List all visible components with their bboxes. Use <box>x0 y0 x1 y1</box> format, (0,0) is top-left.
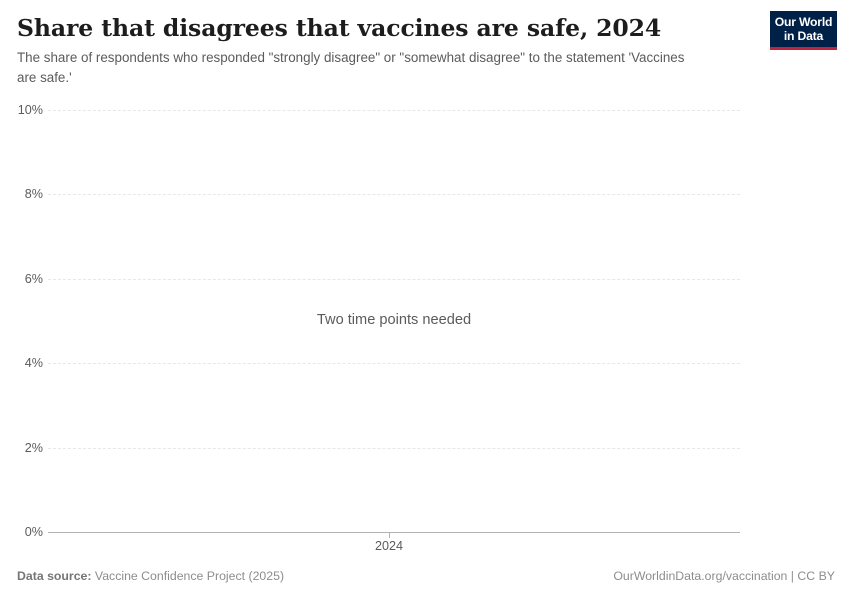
data-source-label: Data source: <box>17 569 92 583</box>
tick-mark <box>389 532 390 538</box>
gridline <box>48 363 740 364</box>
x-axis-tick-label: 2024 <box>375 539 403 553</box>
gridline <box>48 448 740 449</box>
x-axis-line <box>48 532 740 533</box>
logo-line-1: Our World <box>770 16 837 30</box>
y-axis-tick-label: 0% <box>25 525 43 539</box>
y-axis-tick-label: 8% <box>25 187 43 201</box>
y-axis-tick-label: 10% <box>18 103 43 117</box>
chart-footer: Data source: Vaccine Confidence Project … <box>17 569 835 589</box>
y-axis-tick-label: 2% <box>25 441 43 455</box>
gridline <box>48 194 740 195</box>
y-axis-tick-label: 4% <box>25 356 43 370</box>
gridline <box>48 110 740 111</box>
data-source-value[interactable]: Vaccine Confidence Project (2025) <box>95 569 284 583</box>
empty-state-message: Two time points needed <box>48 312 740 328</box>
gridline <box>48 279 740 280</box>
page-title: Share that disagrees that vaccines are s… <box>17 14 747 42</box>
data-source: Data source: Vaccine Confidence Project … <box>17 569 284 583</box>
logo-line-2: in Data <box>770 30 837 48</box>
plot-area: 10% 8% 6% 4% 2% 0% Two time points neede… <box>0 100 850 555</box>
y-axis-tick-label: 6% <box>25 272 43 286</box>
license-link[interactable]: OurWorldinData.org/vaccination | CC BY <box>613 569 835 583</box>
chart-container: Share that disagrees that vaccines are s… <box>0 0 850 600</box>
our-world-in-data-logo[interactable]: Our World in Data <box>770 11 837 50</box>
chart-header: Share that disagrees that vaccines are s… <box>17 14 747 87</box>
chart-subtitle: The share of respondents who responded "… <box>17 48 707 87</box>
